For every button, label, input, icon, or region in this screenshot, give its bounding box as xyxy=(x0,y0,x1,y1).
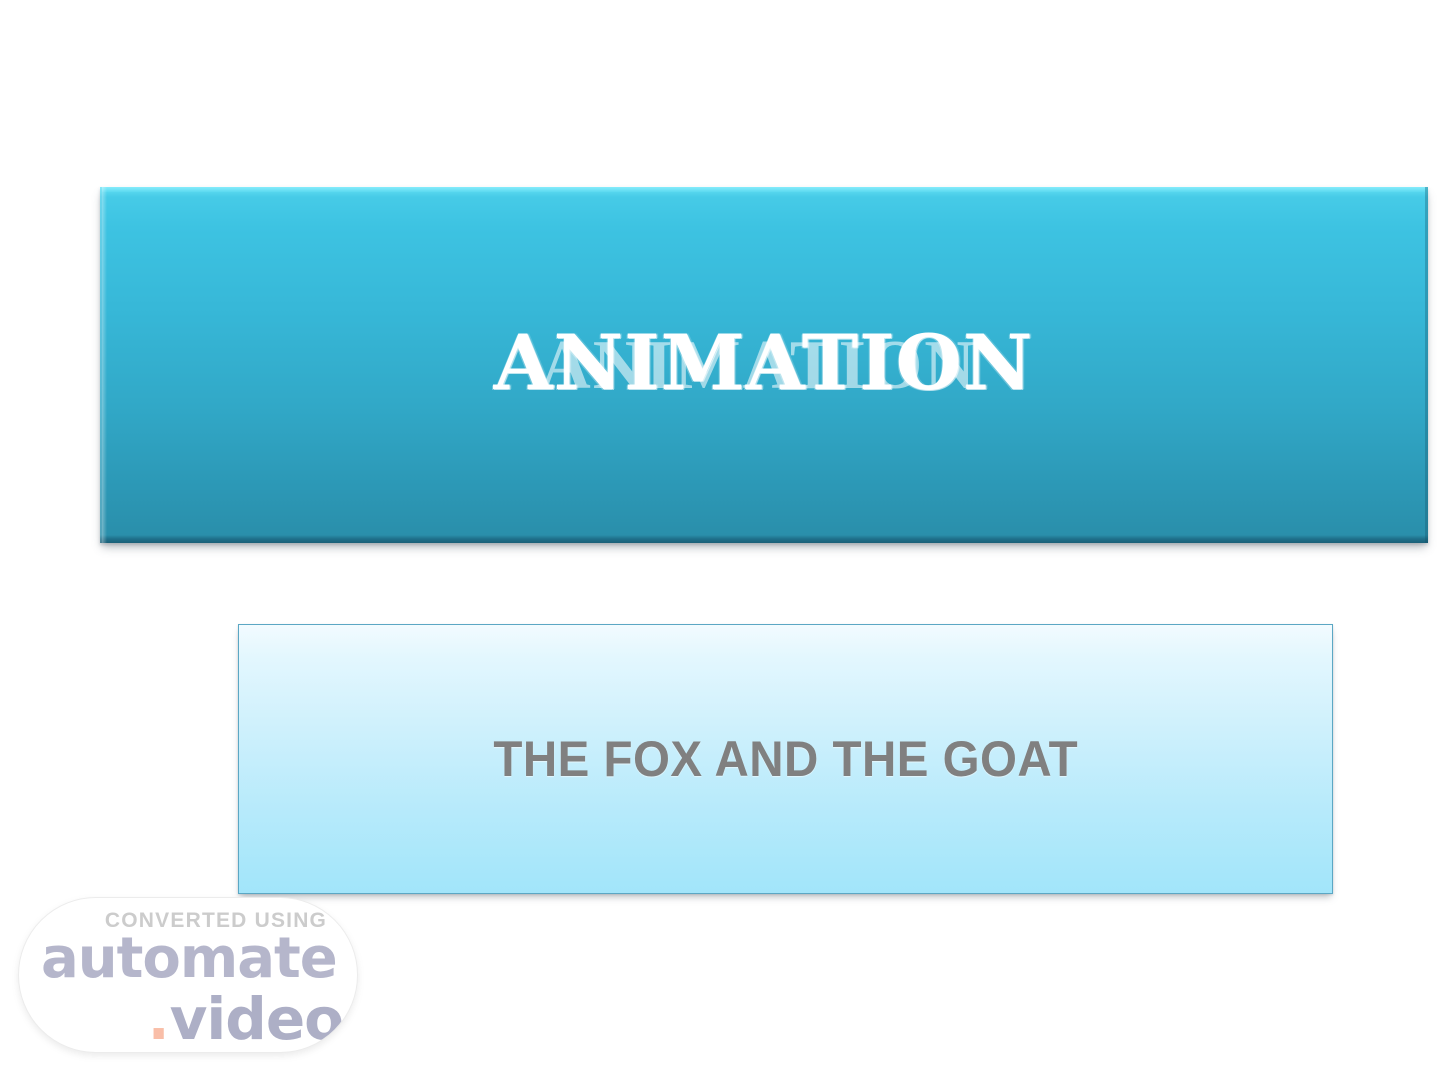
title-banner: ANIMATION ANIMATION xyxy=(100,187,1428,543)
slide-subtitle: THE FOX AND THE GOAT xyxy=(493,734,1078,784)
presentation-slide: ANIMATION ANIMATION THE FOX AND THE GOAT… xyxy=(0,0,1440,1080)
slide-title: ANIMATION xyxy=(494,325,1034,401)
subtitle-box: THE FOX AND THE GOAT xyxy=(238,624,1333,894)
watermark-brand-video-row: . video xyxy=(19,990,343,1048)
watermark-brand-dot: . xyxy=(148,990,170,1048)
watermark-brand-automate: automate xyxy=(41,931,337,987)
watermark-brand-video: video xyxy=(170,990,343,1048)
watermark-badge: CONVERTED USING automate . video xyxy=(18,897,358,1053)
